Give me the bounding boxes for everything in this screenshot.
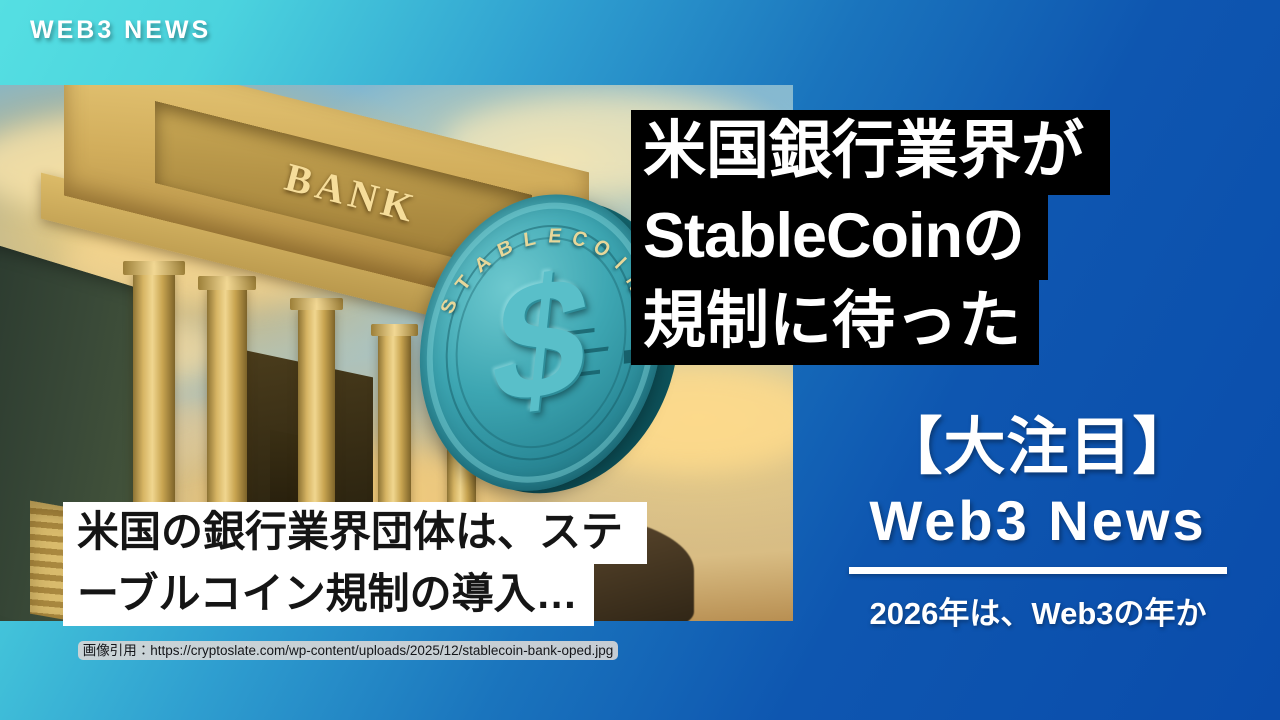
coin-label-char: E [547, 225, 564, 248]
caption-block: 米国の銀行業界団体は、ステ ーブルコイン規制の導入… [63, 502, 647, 626]
coin-label-char: S [436, 295, 463, 317]
caption-line-1: 米国の銀行業界団体は、ステ [63, 502, 647, 564]
divider-rule [849, 567, 1227, 574]
attention-badge: 【大注目】 [822, 415, 1254, 482]
source-attribution-text: 画像引用：https://cryptoslate.com/wp-content/… [78, 641, 619, 660]
headline-block: 米国銀行業界が StableCoinの 規制に待った [631, 110, 1110, 365]
brand-title: WEB3 NEWS [30, 16, 211, 45]
tagline-text: 2026年は、Web3の年か [822, 588, 1254, 633]
coin-label-char: T [451, 271, 477, 295]
headline-line-1: 米国銀行業界が [631, 110, 1110, 195]
coin-label-char: L [523, 227, 538, 253]
headline-line-3: 規制に待った [631, 280, 1039, 365]
headline-line-2: StableCoinの [631, 195, 1048, 280]
coin-label-char: O [588, 235, 615, 264]
coin-label-char: C [568, 227, 591, 254]
right-info-block: 【大注目】 Web3 News 2026年は、Web3の年か [822, 415, 1254, 633]
thumbnail-canvas: WEB3 NEWS BANK [0, 0, 1280, 720]
caption-line-2: ーブルコイン規制の導入… [63, 564, 594, 626]
coin-label-text: STABLECOIN [417, 180, 664, 505]
site-name: Web3 News [822, 492, 1254, 551]
coin-label-char: B [495, 235, 517, 263]
coin-label-char: A [471, 250, 496, 278]
coin-label-char: I [609, 253, 631, 275]
source-attribution: 画像引用：https://cryptoslate.com/wp-content/… [63, 641, 633, 662]
